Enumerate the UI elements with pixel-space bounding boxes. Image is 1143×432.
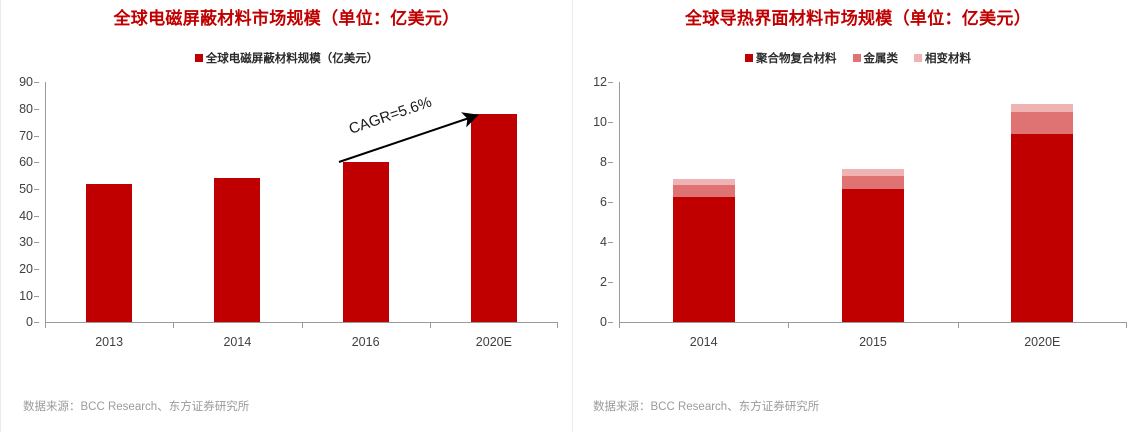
y-axis-right: 12 10 8 6 4 2 0 bbox=[573, 82, 613, 322]
x-tick-label: 2020E bbox=[958, 323, 1127, 351]
source-note-left: 数据来源：BCC Research、东方证券研究所 bbox=[23, 398, 249, 414]
plot-area-right: 12 10 8 6 4 2 0 bbox=[573, 74, 1143, 346]
legend-item: 相变材料 bbox=[914, 50, 971, 66]
y-tick-label: 40 bbox=[19, 209, 33, 223]
legend-swatch-icon bbox=[853, 54, 861, 62]
y-tick-label: 12 bbox=[593, 75, 607, 89]
y-axis-left: 90 80 70 60 50 40 30 20 10 0 bbox=[1, 82, 39, 322]
y-tick-label: 30 bbox=[19, 235, 33, 249]
bar-segment-metal bbox=[842, 176, 904, 189]
chart-panel-emi-shielding: 全球电磁屏蔽材料市场规模（单位：亿美元） 全球电磁屏蔽材料规模（亿美元） 90 … bbox=[0, 0, 573, 432]
x-axis-left: 2013 2014 2016 2020E bbox=[45, 323, 558, 351]
legend-item: 聚合物复合材料 bbox=[745, 50, 837, 66]
bar-slot bbox=[958, 82, 1127, 322]
x-tick-label: 2020E bbox=[430, 323, 558, 351]
bar-segment-metal bbox=[673, 185, 735, 197]
x-tick-label: 2015 bbox=[788, 323, 957, 351]
dual-chart-figure: 全球电磁屏蔽材料市场规模（单位：亿美元） 全球电磁屏蔽材料规模（亿美元） 90 … bbox=[0, 0, 1143, 432]
x-tick-label: 2016 bbox=[302, 323, 430, 351]
legend-label: 相变材料 bbox=[925, 50, 971, 66]
y-tick-label: 0 bbox=[26, 315, 33, 329]
legend-label: 聚合物复合材料 bbox=[756, 50, 837, 66]
legend-item: 全球电磁屏蔽材料规模（亿美元） bbox=[195, 50, 379, 66]
bar-2020e[interactable] bbox=[1011, 104, 1073, 322]
y-tick-label: 70 bbox=[19, 129, 33, 143]
bars-container-right bbox=[619, 82, 1127, 322]
bar-slot bbox=[788, 82, 957, 322]
bar-segment-polymer bbox=[842, 189, 904, 322]
legend-label: 金属类 bbox=[864, 50, 899, 66]
bar-segment-polymer bbox=[1011, 134, 1073, 322]
y-tick-label: 80 bbox=[19, 102, 33, 116]
source-note-right: 数据来源：BCC Research、东方证券研究所 bbox=[593, 398, 819, 414]
legend-swatch-icon bbox=[195, 54, 203, 62]
bar-segment-phase-change bbox=[1011, 104, 1073, 112]
bar-slot bbox=[45, 82, 173, 322]
bar-2015[interactable] bbox=[842, 169, 904, 322]
bar-2016[interactable] bbox=[343, 162, 389, 322]
legend-swatch-icon bbox=[745, 54, 753, 62]
bar-slot bbox=[619, 82, 788, 322]
y-tick-label: 50 bbox=[19, 182, 33, 196]
bar-2020e[interactable] bbox=[471, 114, 517, 322]
chart-panel-thermal-interface: 全球导热界面材料市场规模（单位：亿美元） 聚合物复合材料 金属类 相变材料 12… bbox=[573, 0, 1143, 432]
bar-2013[interactable] bbox=[86, 184, 132, 323]
y-tick-label: 0 bbox=[600, 315, 607, 329]
y-tick-label: 20 bbox=[19, 262, 33, 276]
bar-segment-metal bbox=[1011, 112, 1073, 134]
y-tick-label: 4 bbox=[600, 235, 607, 249]
x-tick-label: 2014 bbox=[173, 323, 301, 351]
x-tick-label: 2013 bbox=[45, 323, 173, 351]
y-tick-label: 8 bbox=[600, 155, 607, 169]
bar-2014[interactable] bbox=[673, 179, 735, 322]
page-title-left: 全球电磁屏蔽材料市场规模（单位：亿美元） bbox=[1, 0, 572, 29]
bar-segment bbox=[471, 114, 517, 322]
legend-right: 聚合物复合材料 金属类 相变材料 bbox=[573, 50, 1143, 66]
bar-slot bbox=[302, 82, 430, 322]
bar-segment bbox=[343, 162, 389, 322]
x-axis-right: 2014 2015 2020E bbox=[619, 323, 1127, 351]
y-tick-label: 2 bbox=[600, 275, 607, 289]
bar-2014[interactable] bbox=[214, 178, 260, 322]
bar-segment bbox=[86, 184, 132, 323]
legend-swatch-icon bbox=[914, 54, 922, 62]
plot-area-left: 90 80 70 60 50 40 30 20 10 0 bbox=[1, 74, 572, 346]
bar-slot bbox=[173, 82, 301, 322]
y-tick-label: 10 bbox=[593, 115, 607, 129]
y-tick-label: 90 bbox=[19, 75, 33, 89]
x-tick-label: 2014 bbox=[619, 323, 788, 351]
legend-item: 金属类 bbox=[853, 50, 899, 66]
y-tick-label: 60 bbox=[19, 155, 33, 169]
bar-segment-phase-change bbox=[842, 169, 904, 176]
y-tick-label: 6 bbox=[600, 195, 607, 209]
bar-segment-polymer bbox=[673, 197, 735, 322]
bars-container-left bbox=[45, 82, 558, 322]
page-title-right: 全球导热界面材料市场规模（单位：亿美元） bbox=[573, 0, 1143, 29]
legend-left: 全球电磁屏蔽材料规模（亿美元） bbox=[1, 50, 572, 66]
bar-segment bbox=[214, 178, 260, 322]
legend-label: 全球电磁屏蔽材料规模（亿美元） bbox=[206, 50, 379, 66]
bar-slot bbox=[430, 82, 558, 322]
y-tick-label: 10 bbox=[19, 289, 33, 303]
